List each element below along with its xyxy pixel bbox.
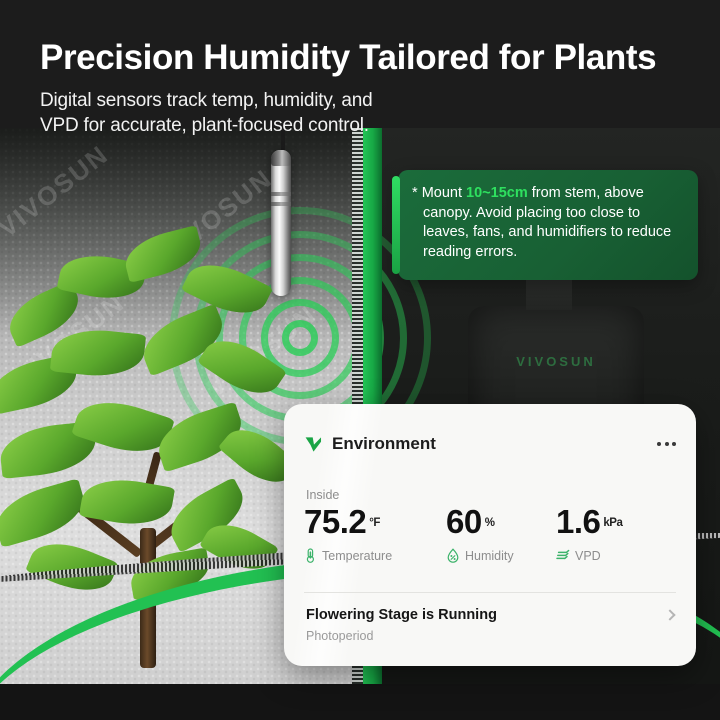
metric-unit: kPa <box>603 505 622 541</box>
hero-subtitle-line-1: Digital sensors track temp, humidity, an… <box>40 88 373 113</box>
foreground-dark-band <box>0 684 720 720</box>
probe-cap <box>271 150 291 166</box>
callout-highlight-distance: 10~15cm <box>466 185 528 201</box>
hero-subtitle-line-2: VPD for accurate, plant-focused control. <box>40 113 373 138</box>
promo-image-stage: VIVOSUN VIVOSUN VIVOSUN VIVOSUN VIVOSUN … <box>0 0 720 720</box>
grow-stage-row[interactable]: Flowering Stage is Running Photoperiod <box>306 607 678 643</box>
metric-label: Humidity <box>465 549 514 563</box>
grow-stage-subtitle: Photoperiod <box>306 629 678 643</box>
card-header: Environment <box>304 434 676 454</box>
callout-text-before: Mount <box>422 185 462 201</box>
airflow-waves-icon <box>556 548 570 563</box>
metric-vpd[interactable]: 1.6 kPa VPD <box>556 504 666 563</box>
metric-value-row: 75.2 °F <box>304 504 446 541</box>
grow-stage-title: Flowering Stage is Running <box>306 607 678 623</box>
metric-value: 60 <box>446 504 482 540</box>
metric-label-row: Temperature <box>304 548 446 563</box>
callout-text: * Mount 10~15cm from stem, above canopy.… <box>412 184 682 262</box>
vivosun-v-logo-icon <box>304 435 323 454</box>
metric-label-row: VPD <box>556 548 666 563</box>
callout-accent-edge <box>392 176 400 274</box>
device-brand-label: VIVOSUN <box>468 354 644 369</box>
page-title: Precision Humidity Tailored for Plants <box>40 38 656 78</box>
placement-tip-callout: * Mount 10~15cm from stem, above canopy.… <box>398 170 698 280</box>
metrics-row: 75.2 °F Temperature 60 % <box>304 504 678 563</box>
callout-bullet: * <box>412 185 418 201</box>
metric-label-row: Humidity <box>446 548 556 563</box>
metric-value: 1.6 <box>556 504 600 540</box>
water-drop-percent-icon <box>446 548 460 563</box>
metric-label: VPD <box>575 549 601 563</box>
probe-seam <box>271 192 291 196</box>
hero-subtitle: Digital sensors track temp, humidity, an… <box>40 88 373 138</box>
metric-label: Temperature <box>322 549 392 563</box>
more-options-icon[interactable] <box>657 442 676 446</box>
metric-temperature[interactable]: 75.2 °F Temperature <box>304 504 446 563</box>
metric-value: 75.2 <box>304 504 366 540</box>
environment-card[interactable]: Environment Inside 75.2 °F Temperat <box>284 404 696 666</box>
metrics-section-label: Inside <box>306 488 339 502</box>
metric-unit: % <box>485 505 495 541</box>
metric-unit: °F <box>369 505 380 541</box>
card-divider <box>304 592 676 593</box>
card-title: Environment <box>332 434 436 454</box>
metric-value-row: 1.6 kPa <box>556 504 666 541</box>
thermometer-icon <box>304 548 317 563</box>
metric-value-row: 60 % <box>446 504 556 541</box>
metric-humidity[interactable]: 60 % Humidity <box>446 504 556 563</box>
